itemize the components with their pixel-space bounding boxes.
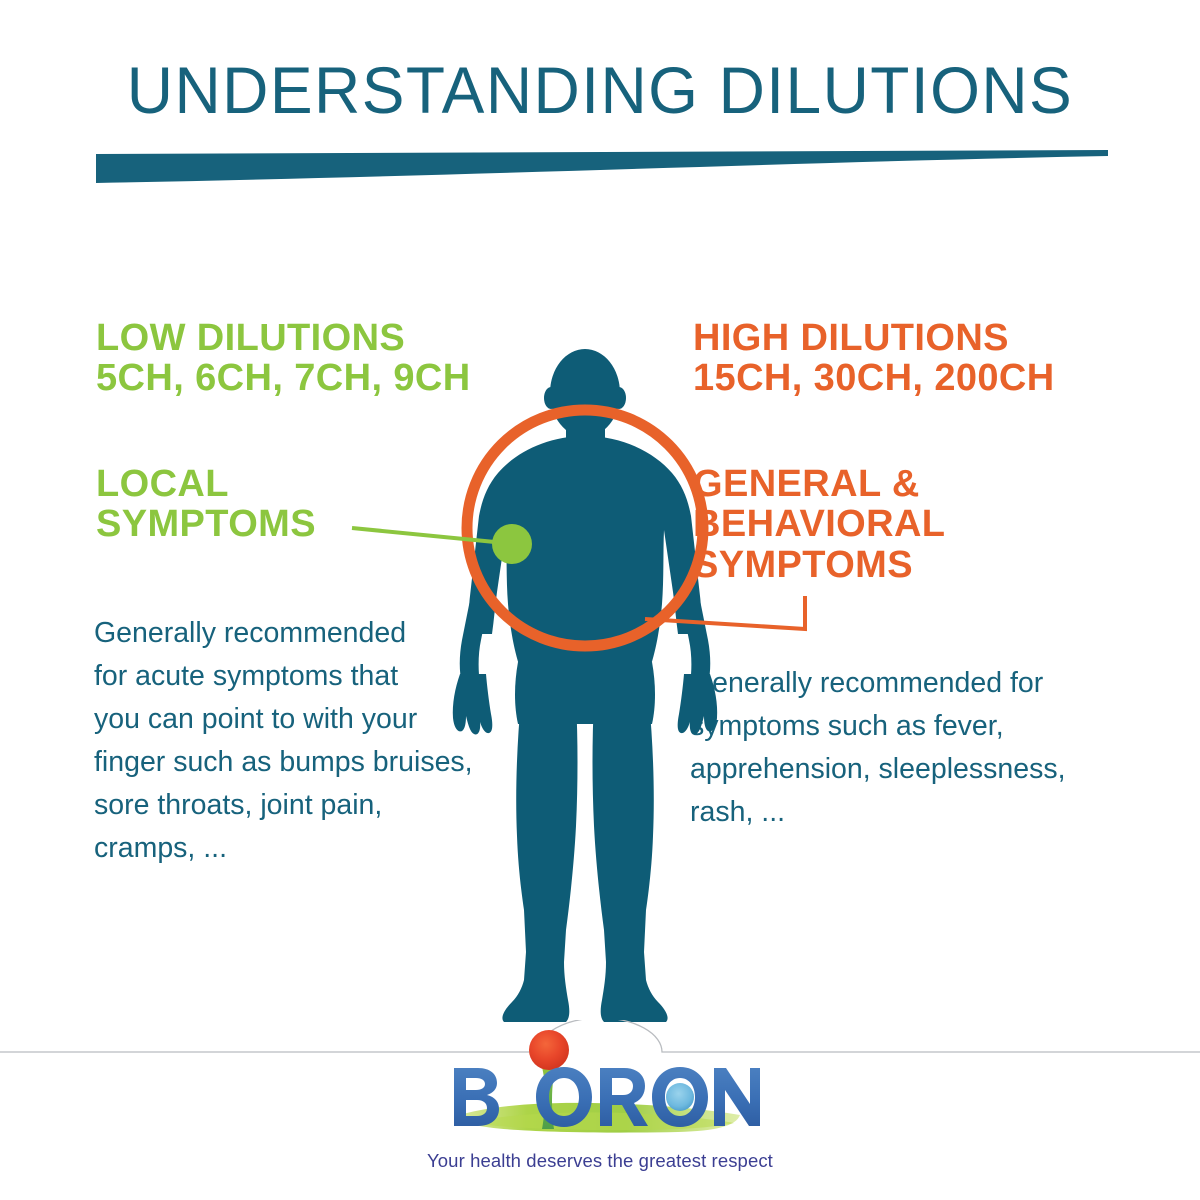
heading-high-dilutions-line1: HIGH DILUTIONS [693, 317, 1009, 359]
paragraph-general-symptoms: Generally recommended for symptoms such … [690, 662, 1120, 834]
infographic-page: UNDERSTANDING DILUTIONS LOW DILUTIONS 5C… [0, 0, 1200, 1200]
paragraph-left-line-1: Generally recommended [94, 612, 534, 655]
paragraph-left-line-4: finger such as bumps bruises, [94, 741, 534, 784]
paragraph-left-line-6: cramps, ... [94, 827, 534, 870]
heading-low-dilutions: LOW DILUTIONS 5CH, 6CH, 7CH, 9CH [96, 318, 471, 399]
orange-highlight-circle [467, 410, 703, 646]
page-title: UNDERSTANDING DILUTIONS [18, 52, 1182, 128]
title-divider-wedge [96, 150, 1108, 186]
heading-local-symptoms: LOCAL SYMPTOMS [96, 464, 316, 545]
paragraph-right-line-2: symptoms such as fever, [690, 705, 1120, 748]
green-local-marker-dot [492, 524, 532, 564]
heading-high-dilutions: HIGH DILUTIONS 15CH, 30CH, 200CH [693, 318, 1055, 399]
heading-local-symptoms-line2: SYMPTOMS [96, 504, 316, 544]
heading-general-behavioral-symptoms: GENERAL & BEHAVIORAL SYMPTOMS [693, 464, 945, 585]
heading-general-line2: BEHAVIORAL [693, 504, 945, 544]
heading-high-dilutions-line2: 15CH, 30CH, 200CH [693, 358, 1055, 398]
heading-general-line1: GENERAL & [693, 463, 920, 505]
heading-general-line3: SYMPTOMS [693, 545, 945, 585]
flower-bloom-icon [529, 1030, 569, 1070]
orange-connector-line [645, 596, 805, 629]
boiron-logo: ® [440, 1028, 760, 1146]
footer-tagline: Your health deserves the greatest respec… [0, 1150, 1200, 1172]
green-connector-line [352, 528, 505, 543]
heading-low-dilutions-line1: LOW DILUTIONS [96, 317, 405, 359]
paragraph-left-line-2: for acute symptoms that [94, 655, 534, 698]
paragraph-left-line-3: you can point to with your [94, 698, 534, 741]
heading-local-symptoms-line1: LOCAL [96, 463, 229, 505]
logo-o-watercolor-disc [666, 1083, 694, 1111]
paragraph-local-symptoms: Generally recommended for acute symptoms… [94, 612, 534, 870]
paragraph-right-line-4: rash, ... [690, 791, 1120, 834]
paragraph-left-line-5: sore throats, joint pain, [94, 784, 534, 827]
heading-low-dilutions-line2: 5CH, 6CH, 7CH, 9CH [96, 358, 471, 398]
boiron-logo-artwork: ® [440, 1028, 760, 1146]
paragraph-right-line-1: Generally recommended for [690, 662, 1120, 705]
paragraph-right-line-3: apprehension, sleeplessness, [690, 748, 1120, 791]
